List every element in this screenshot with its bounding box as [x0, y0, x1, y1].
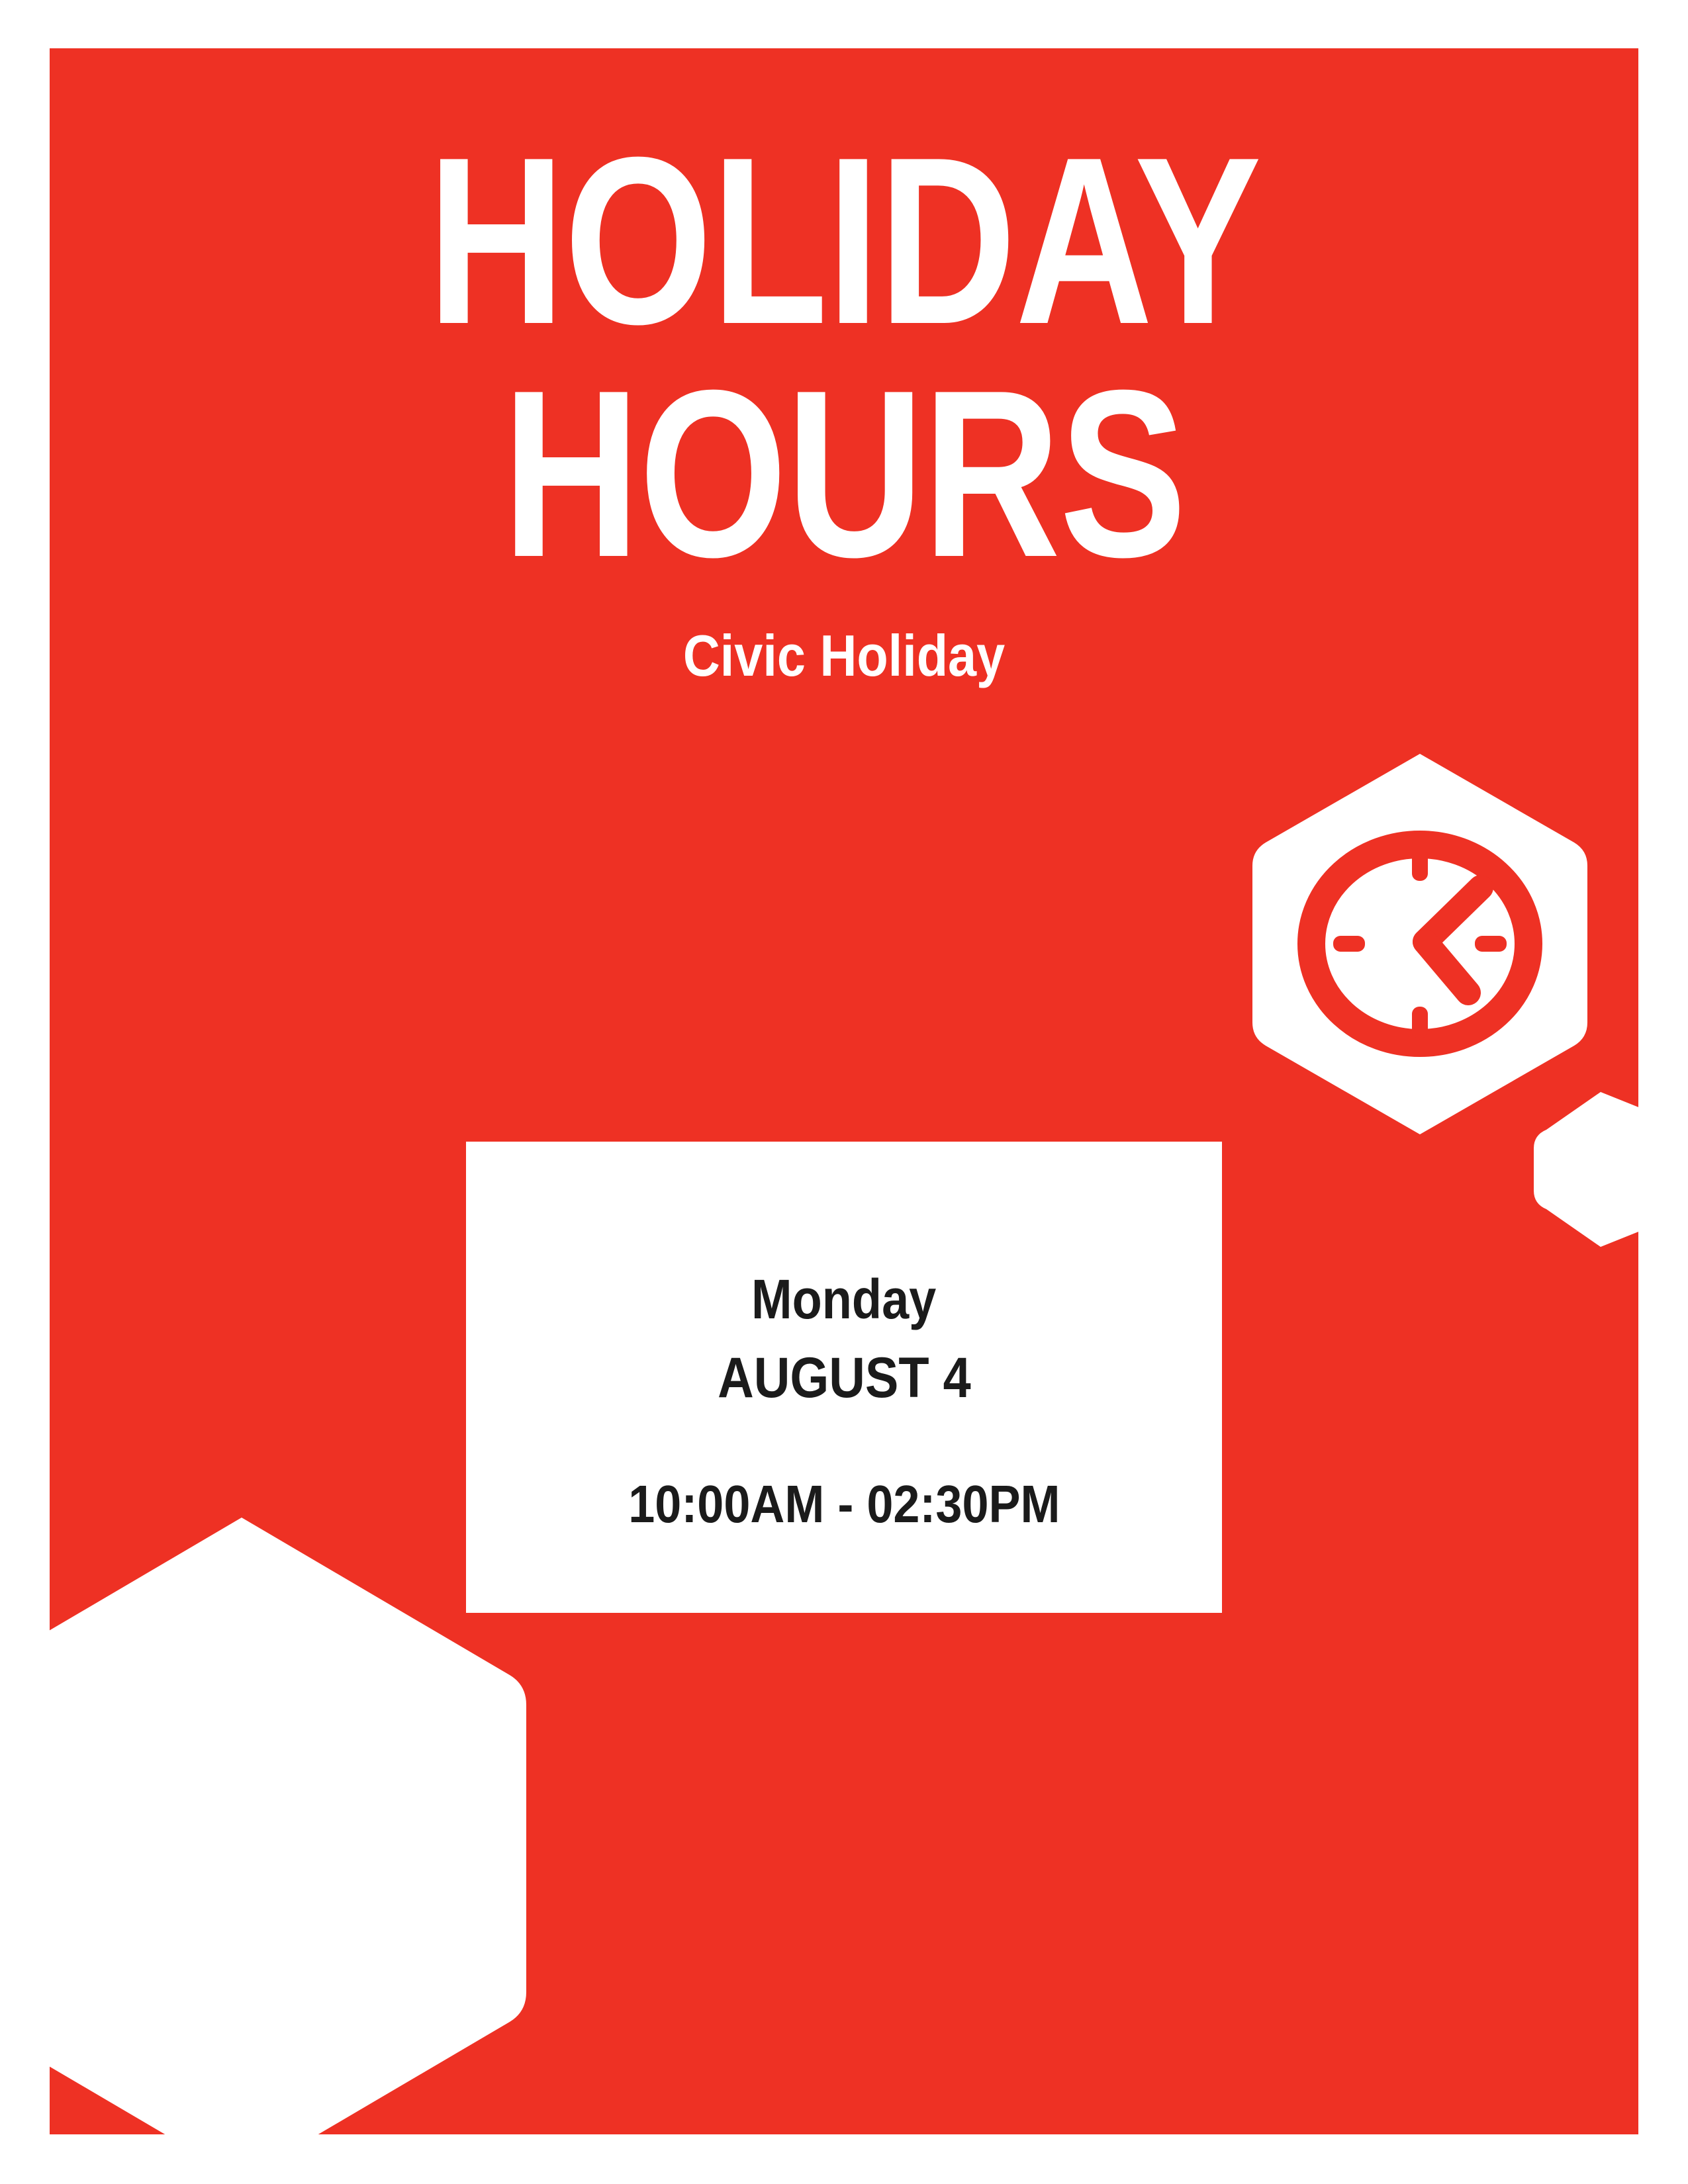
hexagon-accent-icon — [1534, 1090, 1638, 1249]
clock-hexagon-icon — [1252, 750, 1587, 1138]
poster-canvas: HOLIDAY HOURS Civic Holiday — [0, 0, 1688, 2184]
page-title-line-1: HOLIDAY — [209, 128, 1479, 354]
poster-header: HOLIDAY HOURS Civic Holiday — [50, 128, 1638, 688]
schedule-card: Monday AUGUST 4 10:00AM - 02:30PM — [466, 1142, 1222, 1613]
schedule-date: AUGUST 4 — [718, 1349, 971, 1406]
schedule-weekday: Monday — [751, 1271, 936, 1327]
hexagon-corner-icon — [50, 1514, 526, 2134]
page-subtitle: Civic Holiday — [145, 624, 1543, 688]
schedule-hours: 10:00AM - 02:30PM — [628, 1478, 1060, 1531]
page-title-line-2: HOURS — [209, 361, 1479, 587]
poster-background-panel: HOLIDAY HOURS Civic Holiday — [50, 48, 1638, 2134]
